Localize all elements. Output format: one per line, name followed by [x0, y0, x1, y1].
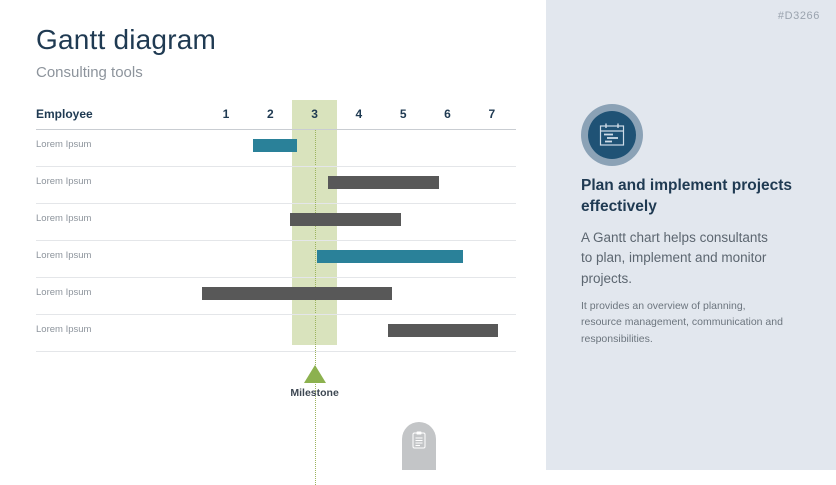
panel-title: Plan and implement projects effectively — [581, 176, 811, 218]
clipboard-icon — [412, 431, 426, 449]
axis-tick-6: 6 — [438, 107, 458, 121]
axis-tick-7: 7 — [482, 107, 502, 121]
axis-tick-4: 4 — [349, 107, 369, 121]
gantt-calendar-icon — [598, 122, 626, 148]
gantt-row[interactable]: Lorem Ipsum — [36, 204, 516, 241]
gantt-task-bar[interactable] — [388, 324, 499, 337]
slide-code: #D3266 — [778, 10, 820, 22]
gantt-row-label: Lorem Ipsum — [36, 287, 91, 298]
gantt-task-bar[interactable] — [253, 139, 297, 152]
gantt-row-label: Lorem Ipsum — [36, 250, 91, 261]
gantt-row-label: Lorem Ipsum — [36, 324, 91, 335]
gantt-row-label: Lorem Ipsum — [36, 139, 91, 150]
axis-tick-3: 3 — [305, 107, 325, 121]
gantt-task-bar[interactable] — [290, 213, 401, 226]
axis-tick-1: 1 — [216, 107, 236, 121]
panel-body-text: A Gantt chart helps consultants to plan,… — [581, 228, 781, 289]
gantt-task-bar[interactable] — [328, 176, 439, 189]
gantt-row[interactable]: Lorem Ipsum — [36, 241, 516, 278]
panel-note-text: It provides an overview of planning, res… — [581, 298, 786, 347]
gantt-row-label: Lorem Ipsum — [36, 176, 91, 187]
milestone-label: Milestone — [255, 387, 375, 399]
bottom-decoration — [402, 422, 436, 470]
panel-icon-ring — [581, 104, 643, 166]
axis-tick-5: 5 — [393, 107, 413, 121]
gantt-row[interactable]: Lorem Ipsum — [36, 278, 516, 315]
gantt-row[interactable]: Lorem Ipsum — [36, 167, 516, 204]
gantt-row-list: Lorem IpsumLorem IpsumLorem IpsumLorem I… — [36, 130, 516, 352]
slide-canvas: Gantt diagram Consulting tools Employee … — [0, 0, 836, 470]
employee-column-label: Employee — [36, 107, 93, 121]
panel-icon-circle — [588, 111, 636, 159]
gantt-row[interactable]: Lorem Ipsum — [36, 130, 516, 167]
gantt-row[interactable]: Lorem Ipsum — [36, 315, 516, 352]
gantt-task-bar[interactable] — [202, 287, 392, 300]
right-info-panel: #D3266 Plan and implement projects effec… — [546, 0, 836, 470]
gantt-task-bar[interactable] — [317, 250, 463, 263]
slide-title: Gantt diagram — [36, 24, 216, 56]
milestone-triangle-icon — [304, 365, 326, 383]
gantt-row-label: Lorem Ipsum — [36, 213, 91, 224]
slide-subtitle: Consulting tools — [36, 64, 143, 81]
gantt-column-header: Employee 1234567 — [36, 105, 516, 127]
gantt-chart: Employee 1234567 Lorem IpsumLorem IpsumL… — [36, 105, 516, 365]
axis-tick-2: 2 — [260, 107, 280, 121]
row-divider — [36, 351, 516, 352]
